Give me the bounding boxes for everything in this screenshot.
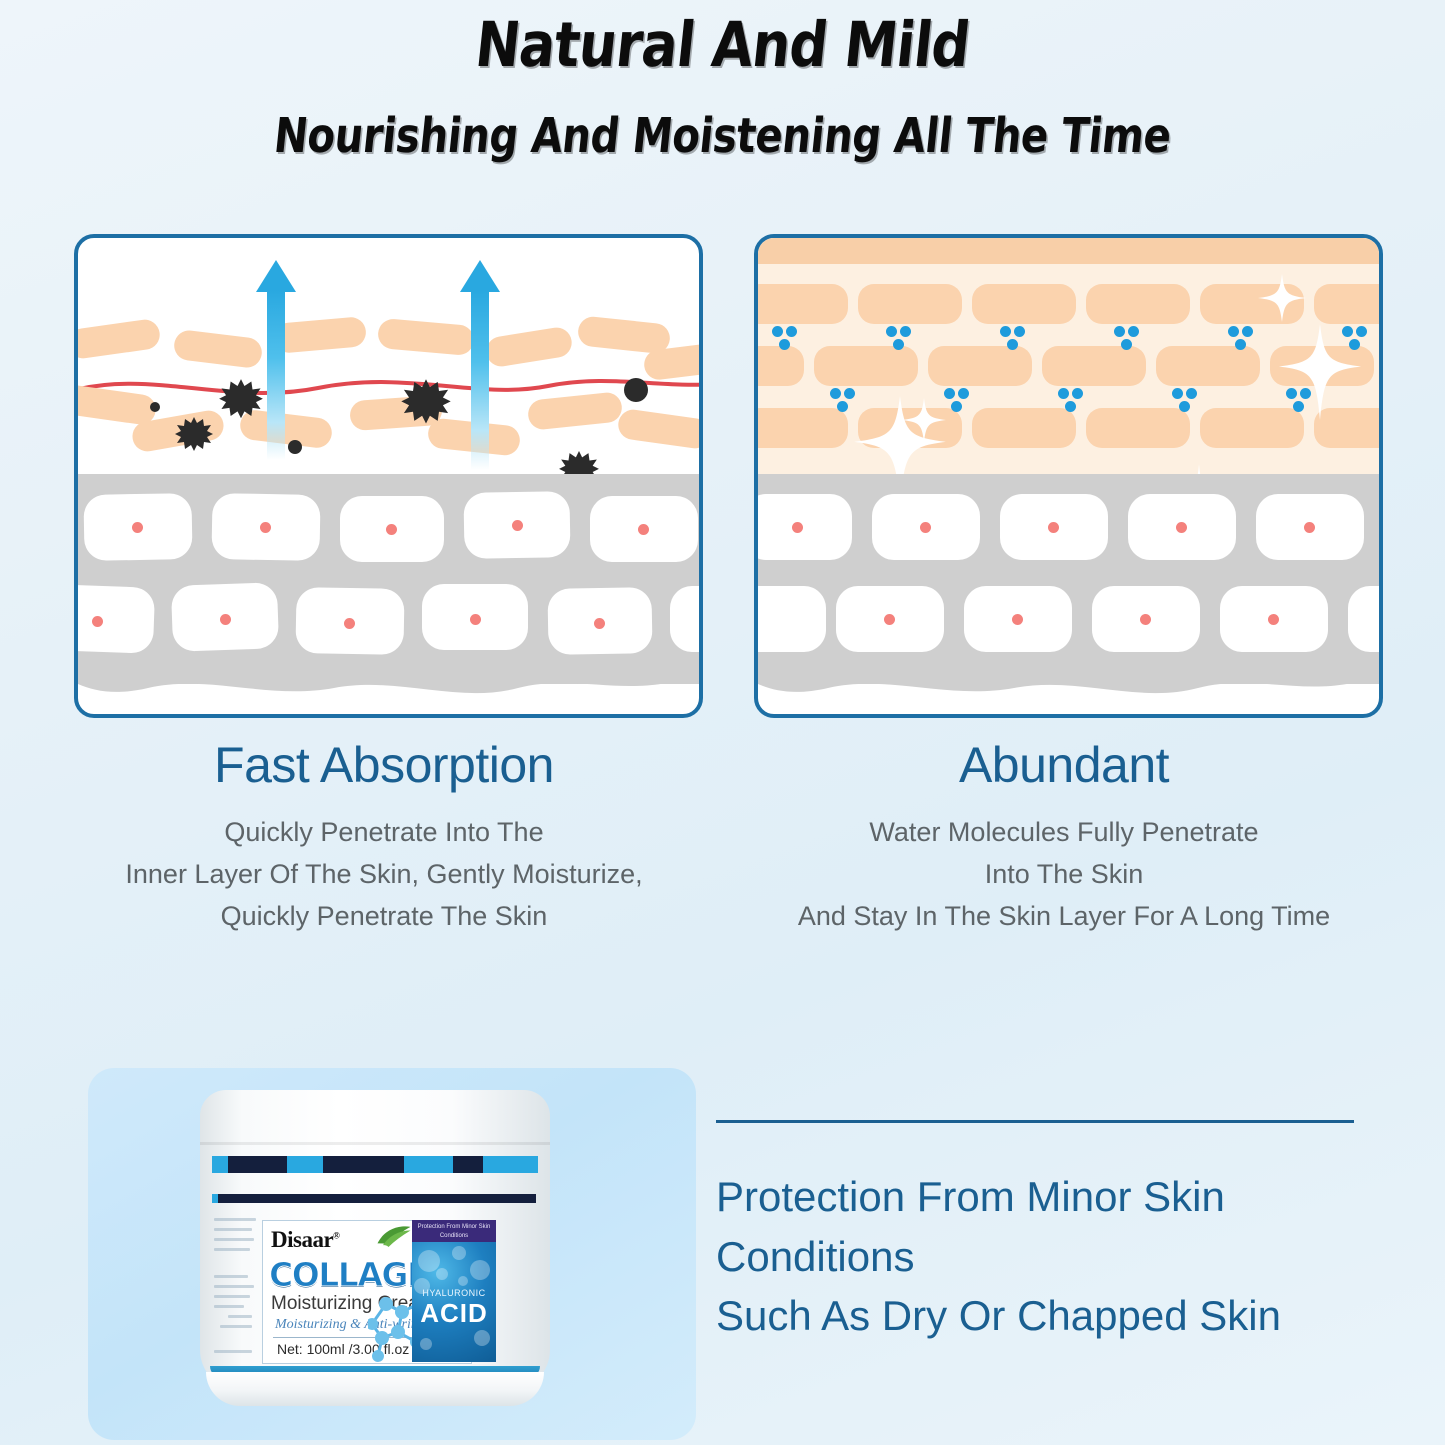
jar-decor-stripe — [212, 1156, 538, 1173]
corneocyte-brick — [972, 408, 1076, 448]
sparkle-icon — [902, 398, 946, 442]
water-molecule-cluster — [1172, 388, 1198, 414]
promo-block: Protection From Minor Skin Conditions Su… — [716, 1120, 1376, 1346]
corneocyte-brick — [1086, 408, 1190, 448]
jar-fine-print — [214, 1218, 258, 1368]
water-molecule-cluster — [1058, 388, 1084, 414]
caption-line: Water Molecules Fully Penetrate — [744, 812, 1384, 854]
skin-surface-layer — [758, 238, 1379, 264]
corneocyte-brick — [1086, 284, 1190, 324]
skin-cross-section-hydrated — [758, 238, 1379, 714]
dermis-wave-edge — [78, 658, 699, 714]
cell-nucleus — [470, 614, 481, 625]
dermis-cell — [1348, 586, 1383, 652]
diagram-panel-fast-absorption — [74, 234, 703, 718]
label-claim-banner: Protection From Minor Skin Conditions Su… — [412, 1220, 496, 1242]
corneocyte-brick — [74, 318, 162, 361]
promo-divider — [716, 1120, 1354, 1123]
water-molecule-cluster — [886, 326, 912, 352]
registered-mark: ® — [333, 1230, 339, 1240]
brand-name: Disaar® — [271, 1227, 339, 1253]
impurity-particle — [218, 378, 264, 424]
skin-cross-section-absorption — [78, 238, 699, 714]
caption-line: And Stay In The Skin Layer For A Long Ti… — [744, 896, 1384, 938]
absorption-arrow — [460, 260, 500, 460]
cell-nucleus — [594, 618, 605, 629]
dermis-cell — [754, 586, 826, 652]
water-molecule-cluster — [830, 388, 856, 414]
jar-lid-seam — [200, 1142, 550, 1145]
promo-line: Such As Dry Or Chapped Skin — [716, 1286, 1376, 1346]
caption-line: Quickly Penetrate The Skin — [64, 896, 704, 938]
dermis-cell — [74, 584, 155, 654]
impurity-particle — [174, 416, 214, 456]
claim-line: Protection From Minor Skin Conditions — [412, 1220, 496, 1241]
sparkle-icon — [1278, 324, 1362, 420]
corneocyte-brick — [928, 346, 1032, 386]
caption-heading: Abundant — [744, 736, 1384, 794]
caption-line: Inner Layer Of The Skin, Gently Moisturi… — [64, 854, 704, 896]
jar-base — [206, 1372, 544, 1406]
dermis-cell — [670, 586, 703, 652]
ingredient-big-label: ACID — [416, 1298, 492, 1329]
ingredient-small-label: HYALURONIC — [418, 1288, 490, 1298]
hyaluronic-acid-panel: HYALURONIC ACID — [412, 1242, 496, 1362]
caption-line: Quickly Penetrate Into The — [64, 812, 704, 854]
caption-body: Quickly Penetrate Into The Inner Layer O… — [64, 812, 704, 938]
water-molecule-cluster — [1000, 326, 1026, 352]
cell-nucleus — [1176, 522, 1187, 533]
corneocyte-brick — [1314, 284, 1383, 324]
corneocyte-brick — [754, 346, 804, 386]
cell-nucleus — [386, 524, 397, 535]
corneocyte-brick — [972, 284, 1076, 324]
cell-nucleus — [1140, 614, 1151, 625]
caption-body: Water Molecules Fully Penetrate Into The… — [744, 812, 1384, 938]
impurity-particle — [624, 378, 648, 402]
water-molecule-cluster — [772, 326, 798, 352]
cell-nucleus — [132, 522, 143, 533]
diagram-panel-abundant — [754, 234, 1383, 718]
corneocyte-brick — [754, 284, 848, 324]
cell-nucleus — [638, 524, 649, 535]
jar-decor-rule — [214, 1194, 536, 1203]
promo-line: Conditions — [716, 1227, 1376, 1287]
cell-nucleus — [920, 522, 931, 533]
caption-abundant: Abundant Water Molecules Fully Penetrate… — [744, 736, 1384, 938]
leaf-icon — [375, 1225, 413, 1247]
water-molecule-cluster — [1114, 326, 1140, 352]
cell-nucleus — [260, 522, 271, 533]
caption-fast-absorption: Fast Absorption Quickly Penetrate Into T… — [64, 736, 704, 938]
corneocyte-brick — [1042, 346, 1146, 386]
cell-nucleus — [884, 614, 895, 625]
sparkle-icon — [1258, 274, 1306, 322]
cell-nucleus — [344, 618, 355, 629]
cell-nucleus — [792, 522, 803, 533]
cell-nucleus — [1048, 522, 1059, 533]
absorption-arrow — [256, 260, 296, 460]
cell-nucleus — [1012, 614, 1023, 625]
dermis-wave-edge — [758, 658, 1379, 714]
corneocyte-brick — [858, 284, 962, 324]
cell-nucleus — [1304, 522, 1315, 533]
dermis-cell — [754, 494, 852, 560]
corneocyte-brick — [754, 408, 848, 448]
cell-nucleus — [1268, 614, 1279, 625]
water-molecule-cluster — [944, 388, 970, 414]
product-jar: Disaar® COLLAGEN Moisturizing Cream Mois… — [200, 1090, 550, 1410]
impurity-particle — [288, 440, 302, 454]
corneocyte-brick — [814, 346, 918, 386]
impurity-particle — [150, 402, 160, 412]
corneocyte-brick — [1156, 346, 1260, 386]
caption-line: Into The Skin — [744, 854, 1384, 896]
impurity-particle — [400, 378, 452, 430]
cell-nucleus — [512, 520, 523, 531]
page-title: Natural And Mild — [97, 8, 1347, 81]
water-molecule-cluster — [1228, 326, 1254, 352]
page-subtitle: Nourishing And Moistening All The Time — [113, 108, 1333, 164]
promo-text: Protection From Minor Skin Conditions Su… — [716, 1167, 1376, 1346]
infographic-page: Natural And Mild Nourishing And Moisteni… — [0, 0, 1445, 1445]
cell-nucleus — [92, 616, 103, 627]
caption-heading: Fast Absorption — [64, 736, 704, 794]
promo-line: Protection From Minor Skin — [716, 1167, 1376, 1227]
cell-nucleus — [220, 614, 231, 625]
